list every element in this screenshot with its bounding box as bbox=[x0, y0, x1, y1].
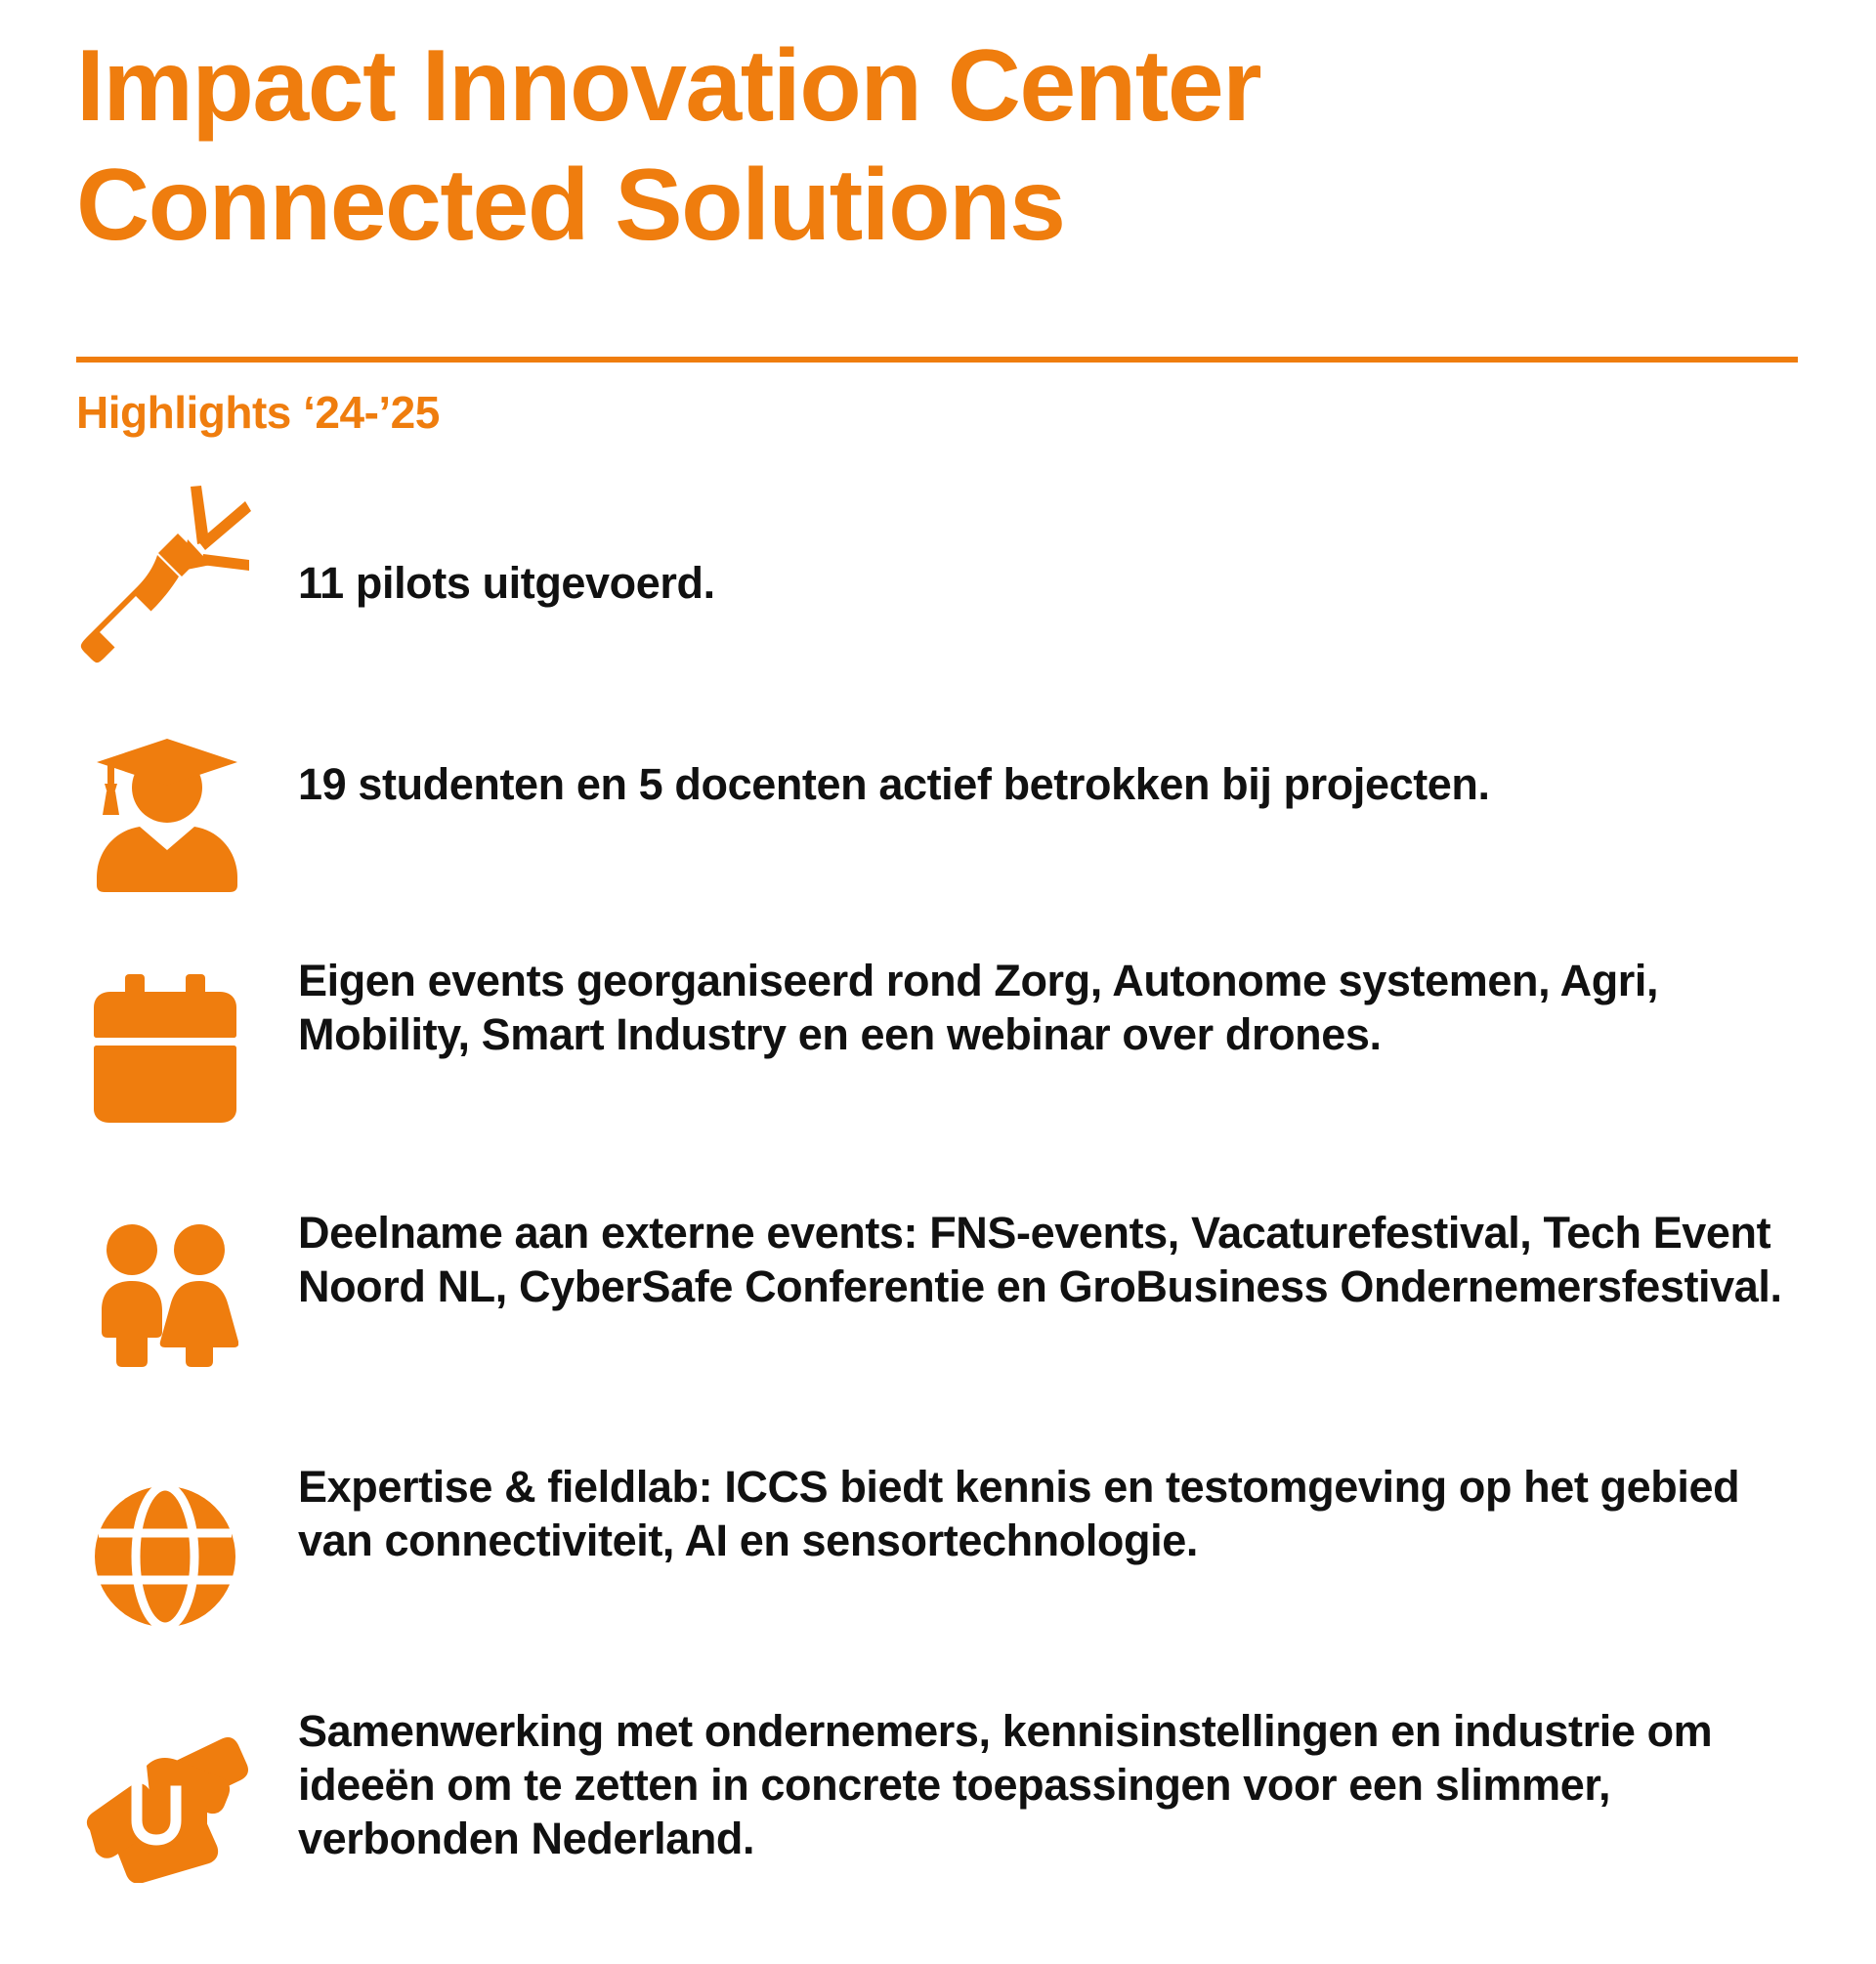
graduate-student-icon bbox=[91, 737, 239, 893]
highlights-list: 11 pilots uitgevoerd. bbox=[76, 481, 1825, 1949]
highlight-text: Eigen events georganiseerd rond Zorg, Au… bbox=[254, 947, 1825, 1062]
list-item: Samenwerking met ondernemers, kennisinst… bbox=[76, 1705, 1825, 1949]
list-item: 11 pilots uitgevoerd. bbox=[76, 481, 1825, 717]
highlight-text: 11 pilots uitgevoerd. bbox=[254, 481, 1825, 611]
slide: Impact Innovation Center Connected Solut… bbox=[0, 0, 1876, 1964]
list-item: Expertise & fieldlab: ICCS biedt kennis … bbox=[76, 1459, 1825, 1705]
highlight-text: Expertise & fieldlab: ICCS biedt kennis … bbox=[254, 1459, 1825, 1568]
highlight-icon-cell bbox=[76, 1203, 254, 1367]
header: Impact Innovation Center Connected Solut… bbox=[76, 27, 1798, 265]
highlight-icon-cell bbox=[76, 481, 254, 681]
highlight-icon-cell bbox=[76, 947, 254, 1123]
list-item: Deelname aan externe events: FNS-events,… bbox=[76, 1203, 1825, 1459]
two-people-icon bbox=[92, 1222, 238, 1367]
champagne-bottle-icon bbox=[80, 481, 251, 681]
highlight-icon-cell bbox=[76, 717, 254, 893]
list-item: 19 studenten en 5 docenten actief betrok… bbox=[76, 717, 1825, 947]
highlight-icon-cell bbox=[76, 1705, 254, 1883]
subtitle: Highlights ‘24-’25 bbox=[76, 386, 440, 439]
page-title: Impact Innovation Center Connected Solut… bbox=[76, 27, 1798, 265]
highlight-text: Deelname aan externe events: FNS-events,… bbox=[254, 1203, 1825, 1314]
highlight-text: Samenwerking met ondernemers, kennisinst… bbox=[254, 1705, 1825, 1866]
list-item: Eigen events georganiseerd rond Zorg, Au… bbox=[76, 947, 1825, 1203]
highlight-text: 19 studenten en 5 docenten actief betrok… bbox=[254, 717, 1825, 812]
header-divider bbox=[76, 357, 1798, 363]
highlight-icon-cell bbox=[76, 1459, 254, 1629]
globe-icon bbox=[93, 1484, 237, 1629]
calendar-icon bbox=[92, 974, 238, 1123]
handshake-icon bbox=[82, 1736, 248, 1883]
